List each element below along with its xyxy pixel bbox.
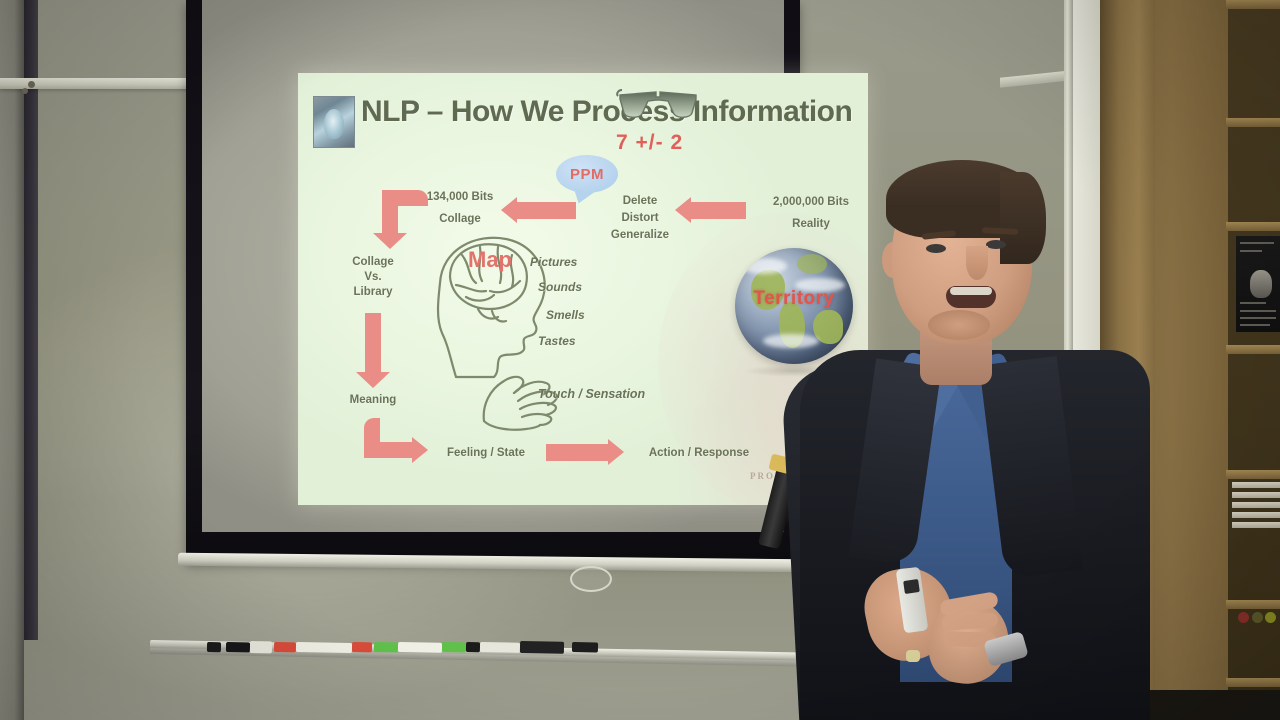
shelf-object-icon [1238,612,1249,623]
sunglasses-icon [616,85,700,130]
wave-logo-icon [313,96,355,148]
bookshelf-board [1226,345,1280,354]
book-stack-item [1232,492,1280,498]
magic-number-label: 7 +/- 2 [616,131,683,155]
presenter-chin [928,310,990,340]
arrow-segment [382,190,398,234]
black-eraser[interactable] [520,641,564,654]
arrow-segment [364,442,412,458]
presenter [770,150,1190,720]
wall-left-panel [0,0,24,720]
red-marker-1[interactable] [274,642,296,652]
green-marker-2[interactable] [442,642,466,652]
collage-vs-line3: Library [330,285,416,300]
filter-generalize-label: Generalize [594,228,686,243]
green-marker-1[interactable] [374,642,398,652]
white-marker-3[interactable] [480,642,520,653]
filter-delete-label: Delete [594,194,686,209]
red-marker-2[interactable] [352,642,372,652]
projector-screen-pull-ring[interactable] [570,566,612,592]
ppm-label: PPM [570,166,604,183]
sense-smells-label: Smells [546,308,636,323]
book-stack-item [1232,502,1280,508]
bookshelf-books [1232,480,1280,540]
bookshelf-board [1226,470,1280,479]
presenter-eye-right [986,240,1006,249]
poster-text-line [1240,302,1266,304]
black-marker-4[interactable] [572,642,598,652]
arrow-filters-to-collage [516,202,576,219]
meaning-label: Meaning [324,393,422,408]
slide-title: NLP – How We Process Information [361,95,852,129]
shelf-object-icon [1265,612,1276,623]
white-marker-2[interactable] [398,642,442,653]
white-marker-1[interactable] [296,642,352,653]
clicker-button-icon[interactable] [903,579,920,594]
poster-text-line [1240,310,1276,312]
filter-distort-label: Distort [594,211,686,226]
arrow-collage-elbow [366,190,428,250]
poster-text-line [1240,242,1274,244]
book-stack-item [1232,522,1280,528]
action-response-label: Action / Response [628,446,770,461]
bookshelf-board [1226,118,1280,127]
shelf-object-icon [1252,612,1263,623]
sense-sounds-label: Sounds [538,280,628,295]
touch-sensation-label: Touch / Sensation [538,387,698,402]
bookshelf-board [1226,600,1280,609]
sense-pictures-label: Pictures [530,255,620,270]
sense-tastes-label: Tastes [538,334,628,349]
arrow-reality-to-filters [690,202,746,219]
poster-portrait-icon [1250,270,1272,298]
brain-map-label: Map [444,247,536,273]
poster-text-line [1240,250,1262,252]
black-marker-1[interactable] [207,642,221,652]
book-stack-item [1232,482,1280,488]
presenter-teeth [950,287,992,295]
arrow-meaning-elbow [364,418,434,470]
presenter-ring [906,650,920,662]
rail-screw-icon [22,88,28,94]
arrow-feeling-to-action [546,444,608,461]
wave-logo-swirl [324,109,344,139]
bookshelf-board [1226,0,1280,9]
arrow-library-to-meaning [365,313,381,373]
collage-vs-line2: Vs. [330,270,416,285]
bookshelf-poster [1236,236,1280,332]
ppm-speech-bubble: PPM [556,155,618,193]
presenter-eye-left [926,244,946,253]
bookshelf-board [1226,222,1280,231]
poster-text-line [1240,324,1270,326]
bookshelf-objects [1236,610,1280,626]
poster-text-line [1240,317,1276,319]
black-marker-2[interactable] [226,642,250,652]
white-eraser[interactable] [250,641,272,653]
wall-dark-column [24,0,38,640]
feeling-state-label: Feeling / State [426,446,546,461]
collage-vs-line1: Collage [330,255,416,270]
rail-screw-icon [28,81,35,88]
black-marker-3[interactable] [466,642,480,652]
screenshot-stage: NLP – How We Process Information PPM 2,0… [0,0,1280,720]
presenter-hair-side [1000,172,1046,264]
book-stack-item [1232,512,1280,518]
presenter-nose [966,246,988,280]
bookshelf-board [1226,678,1280,687]
